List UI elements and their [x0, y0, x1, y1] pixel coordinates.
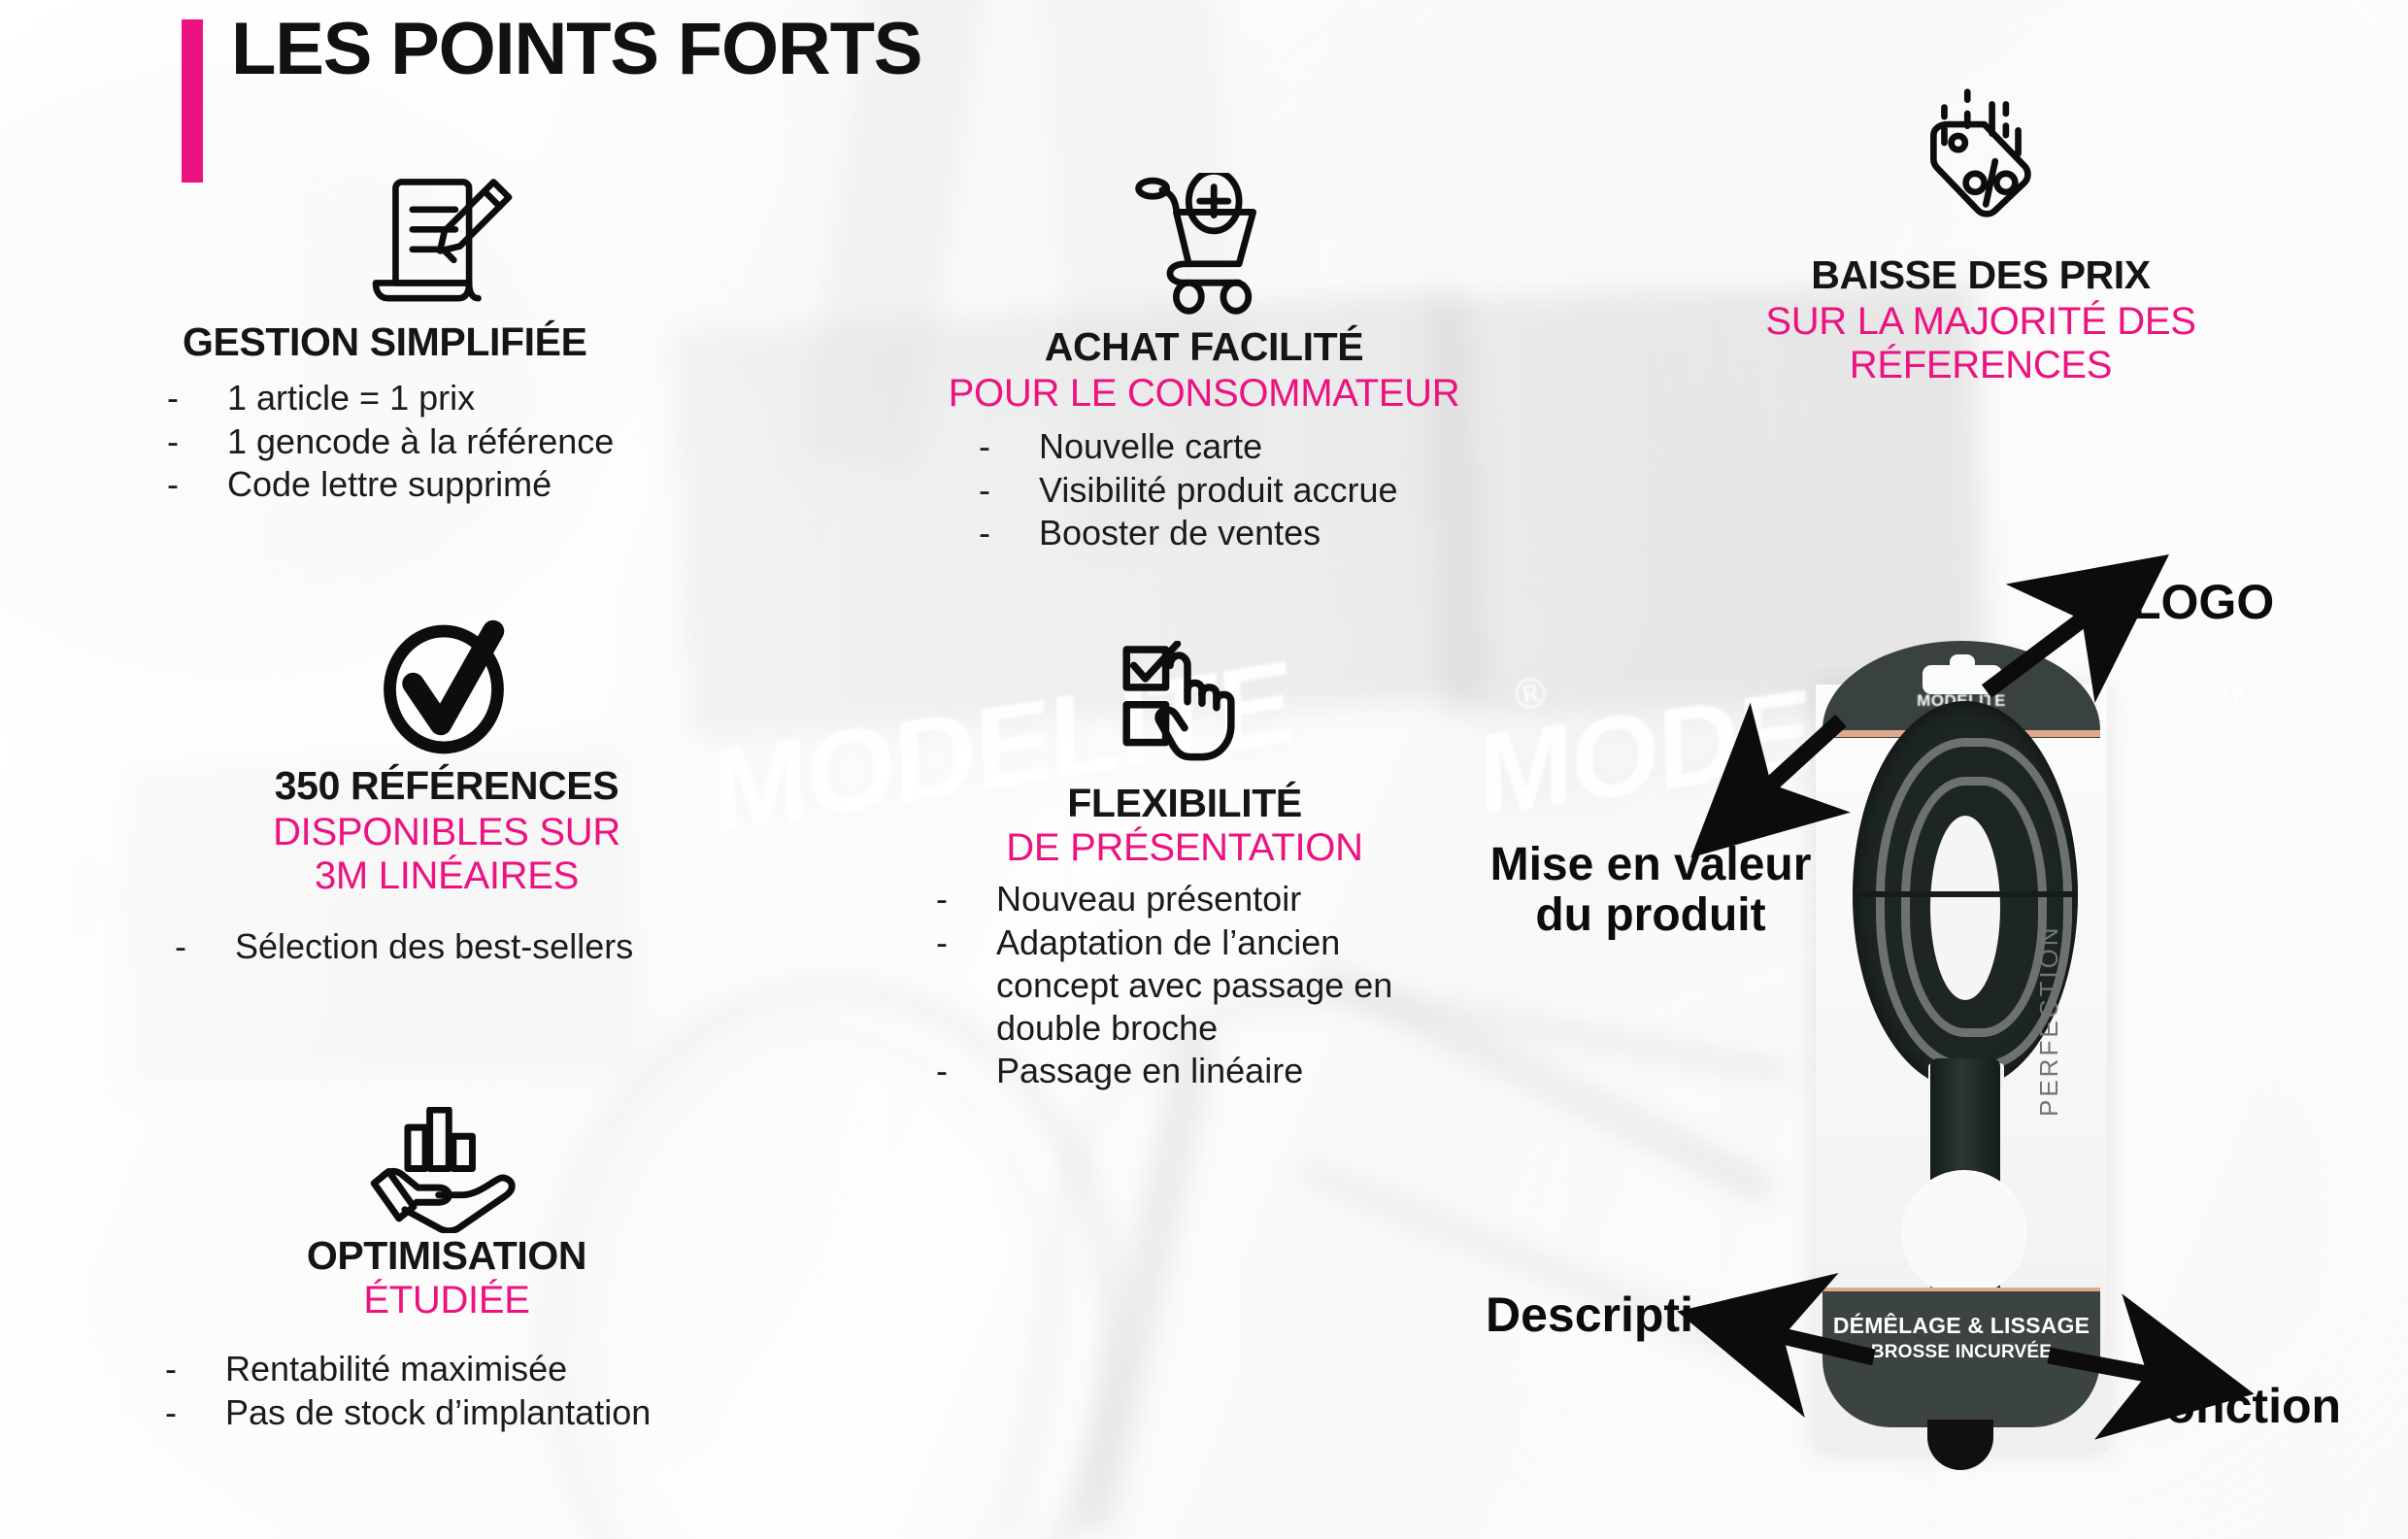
icon-wrap	[146, 173, 728, 314]
bullet-text: Passage en linéaire	[996, 1050, 1456, 1092]
block-bullets: -Nouvelle carte -Visibilité produit accr…	[932, 425, 1476, 554]
brush-center-hole	[1930, 816, 2000, 1000]
bullet-marker: -	[165, 1391, 225, 1434]
bullet-text: Nouveau présentoir	[996, 878, 1456, 920]
bullet-marker: -	[979, 469, 1039, 512]
block-bullets: -Nouveau présentoir -Adaptation de l’anc…	[913, 878, 1456, 1092]
block-achat-facilite: ACHAT FACILITÉ POUR LE CONSOMMATEUR -Nou…	[932, 173, 1476, 554]
bullet-item: -Pas de stock d’implantation	[165, 1391, 748, 1434]
block-bullets: -1 article = 1 prix -1 gencode à la réfé…	[146, 377, 728, 506]
block-bullets: -Sélection des best-sellers	[146, 925, 748, 968]
bullet-marker: -	[167, 463, 227, 506]
block-subtitle: DISPONIBLES SUR 3M LINÉAIRES	[146, 811, 748, 898]
block-subtitle: ÉTUDIÉE	[146, 1279, 748, 1322]
brush-crossbar	[1853, 891, 2078, 897]
block-title: ACHAT FACILITÉ	[932, 326, 1476, 368]
icon-wrap	[1709, 87, 2253, 251]
annotation-fonction: Fonction	[2136, 1381, 2341, 1432]
bullet-item: -Code lettre supprimé	[167, 463, 728, 506]
icon-wrap	[146, 1107, 748, 1233]
bullet-text: Pas de stock d’implantation	[225, 1391, 748, 1434]
bullet-text: 1 gencode à la référence	[227, 420, 728, 463]
product-description-line2: BROSSE INCURVÉE	[1823, 1342, 2100, 1363]
package-hang-hole	[1923, 665, 2002, 694]
block-350-references: 350 RÉFÉRENCES DISPONIBLES SUR 3M LINÉAI…	[146, 614, 748, 968]
annotation-logo: LOGO	[2131, 577, 2274, 628]
bullet-text: Code lettre supprimé	[227, 463, 728, 506]
checklist-hand-click-icon	[1112, 641, 1257, 779]
bullet-text: Sélection des best-sellers	[235, 925, 748, 968]
bullet-marker: -	[167, 420, 227, 463]
block-bullets: -Rentabilité maximisée -Pas de stock d’i…	[146, 1348, 748, 1434]
bullet-item: -Booster de ventes	[979, 512, 1476, 554]
block-subtitle: DE PRÉSENTATION	[913, 826, 1456, 870]
block-gestion-simplifiee: GESTION SIMPLIFIÉE -1 article = 1 prix -…	[146, 173, 728, 506]
bullet-item: -Nouvelle carte	[979, 425, 1476, 468]
bullet-text: Rentabilité maximisée	[225, 1348, 748, 1390]
block-subtitle: POUR LE CONSOMMATEUR	[932, 372, 1476, 416]
bullet-marker: -	[936, 921, 996, 1051]
hand-bar-chart-icon	[369, 1107, 524, 1233]
block-title: GESTION SIMPLIFIÉE	[146, 321, 728, 363]
page-title: LES POINTS FORTS	[231, 13, 921, 86]
block-title: BAISSE DES PRIX	[1709, 254, 2253, 296]
bullet-item: -1 gencode à la référence	[167, 420, 728, 463]
bullet-text: Adaptation de l’ancien concept avec pass…	[996, 921, 1423, 1051]
bullet-text: Booster de ventes	[1039, 512, 1476, 554]
bullet-item: -Sélection des best-sellers	[175, 925, 748, 968]
block-optimisation: OPTIMISATION ÉTUDIÉE -Rentabilité maximi…	[146, 1107, 748, 1434]
bullet-marker: -	[175, 925, 235, 968]
icon-wrap	[913, 641, 1456, 779]
bullet-marker: -	[936, 878, 996, 920]
product-description-line1: DÉMÊLAGE & LISSAGE	[1823, 1313, 2100, 1339]
icon-wrap	[932, 173, 1476, 320]
bullet-marker: -	[165, 1348, 225, 1390]
price-tag-percent-icon	[1896, 87, 2066, 251]
bullet-item: -Passage en linéaire	[936, 1050, 1456, 1092]
bullet-item: -Adaptation de l’ancien concept avec pas…	[936, 921, 1456, 1051]
block-title: OPTIMISATION	[146, 1235, 748, 1277]
bullet-marker: -	[936, 1050, 996, 1092]
bullet-text: Visibilité produit accrue	[1039, 469, 1476, 512]
block-subtitle: SUR LA MAJORITÉ DES RÉFERENCES	[1709, 300, 2253, 387]
block-flexibilite: FLEXIBILITÉ DE PRÉSENTATION -Nouveau pré…	[913, 641, 1456, 1093]
bullet-item: -Visibilité produit accrue	[979, 469, 1476, 512]
icon-wrap	[146, 614, 748, 759]
check-circle-icon	[374, 614, 519, 759]
annotation-mise-en-valeur: Mise en valeur du produit	[1476, 840, 1825, 941]
block-title: 350 RÉFÉRENCES	[146, 765, 748, 807]
bullet-item: -1 article = 1 prix	[167, 377, 728, 419]
shopping-cart-plus-icon	[1110, 173, 1299, 320]
bullet-marker: -	[979, 425, 1039, 468]
document-pencil-icon	[345, 173, 529, 314]
bullet-marker: -	[167, 377, 227, 419]
annotation-description: Description	[1486, 1289, 1753, 1341]
package-white-circle	[1901, 1170, 2027, 1296]
bullet-text: 1 article = 1 prix	[227, 377, 728, 419]
slide-canvas: MODELITE ® MODELITE ® MODE LES POINTS FO…	[0, 0, 2408, 1539]
bullet-item: -Rentabilité maximisée	[165, 1348, 748, 1390]
block-baisse-des-prix: BAISSE DES PRIX SUR LA MAJORITÉ DES RÉFE…	[1709, 87, 2253, 387]
bullet-item: -Nouveau présentoir	[936, 878, 1456, 920]
title-accent-bar	[182, 19, 203, 183]
product-side-label: PERFECTION	[2034, 924, 2064, 1117]
package-foot	[1927, 1420, 1993, 1470]
bullet-marker: -	[979, 512, 1039, 554]
bullet-text: Nouvelle carte	[1039, 425, 1476, 468]
block-title: FLEXIBILITÉ	[913, 783, 1456, 824]
